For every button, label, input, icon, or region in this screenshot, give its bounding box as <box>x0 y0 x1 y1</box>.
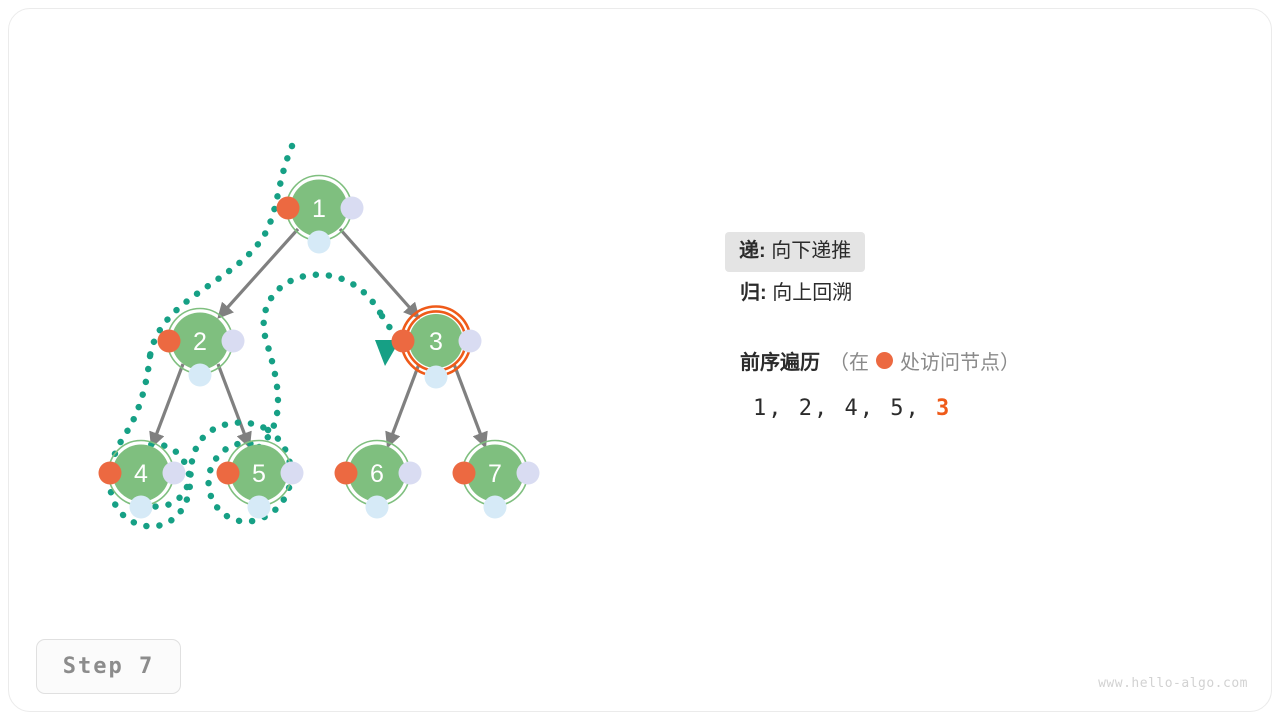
node-7-visit-dot-icon <box>453 462 476 485</box>
tree-node-7[interactable]: 7 <box>453 441 540 519</box>
orange-dot-icon <box>876 352 893 369</box>
node-2-bottom-slot-icon <box>189 364 212 387</box>
node-2-right-slot-icon <box>222 330 245 353</box>
node-2-visit-dot-icon <box>158 330 181 353</box>
edge-3-7 <box>454 364 485 446</box>
node-3-label: 3 <box>429 328 443 356</box>
tree-node-5[interactable]: 5 <box>217 441 304 519</box>
legend-backtrack-key: 归: <box>740 282 767 304</box>
trace-segment-5-back-up <box>259 275 382 447</box>
node-3-bottom-slot-icon <box>425 366 448 389</box>
node-7-right-slot-icon <box>517 462 540 485</box>
legend-recurse-row: 递: 向下递推 <box>725 232 865 272</box>
traversal-sequence-current: 3 <box>936 396 951 421</box>
node-6-right-slot-icon <box>399 462 422 485</box>
node-4-right-slot-icon <box>163 462 186 485</box>
step-badge: Step 7 <box>36 639 181 694</box>
traversal-sequence: 1, 2, 4, 5, 3 <box>740 396 1206 421</box>
node-1-bottom-slot-icon <box>308 231 331 254</box>
node-6-visit-dot-icon <box>335 462 358 485</box>
node-1-label: 1 <box>312 195 326 223</box>
traversal-note-open: （在 <box>829 346 869 375</box>
node-3-right-slot-icon <box>459 330 482 353</box>
node-7-bottom-slot-icon <box>484 496 507 519</box>
node-4-visit-dot-icon <box>99 462 122 485</box>
legend-panel: 递: 向下递推 归: 向上回溯 前序遍历 （在 处访问节点） 1, 2, 4, … <box>726 232 1206 421</box>
illustration-canvas: 1 2 3 4 <box>0 0 1280 720</box>
node-5-label: 5 <box>252 460 266 488</box>
node-2-label: 2 <box>193 328 207 356</box>
legend-recurse-value: 向下递推 <box>771 240 851 262</box>
legend-backtrack-value: 向上回溯 <box>772 282 852 304</box>
node-7-label: 7 <box>488 460 502 488</box>
node-5-right-slot-icon <box>281 462 304 485</box>
tree-node-6[interactable]: 6 <box>335 441 422 519</box>
edge-1-3 <box>340 229 418 317</box>
node-6-bottom-slot-icon <box>366 496 389 519</box>
edge-2-5 <box>218 364 249 446</box>
traversal-title-row: 前序遍历 （在 处访问节点） <box>740 346 1206 375</box>
legend-backtrack-row: 归: 向上回溯 <box>726 274 1206 314</box>
edge-3-6 <box>388 364 419 446</box>
node-6-label: 6 <box>370 460 384 488</box>
node-3-visit-dot-icon <box>392 330 415 353</box>
traversal-sequence-visited: 1, 2, 4, 5, <box>753 396 921 421</box>
node-4-bottom-slot-icon <box>130 496 153 519</box>
traversal-block: 前序遍历 （在 处访问节点） 1, 2, 4, 5, 3 <box>726 346 1206 421</box>
node-1-right-slot-icon <box>341 197 364 220</box>
node-5-visit-dot-icon <box>217 462 240 485</box>
node-5-bottom-slot-icon <box>248 496 271 519</box>
edge-2-4 <box>152 364 183 446</box>
tree-node-4[interactable]: 4 <box>99 441 186 519</box>
node-4-label: 4 <box>134 460 148 488</box>
traversal-title: 前序遍历 <box>740 346 820 375</box>
traversal-note-close: 处访问节点） <box>900 346 1020 375</box>
node-1-visit-dot-icon <box>277 197 300 220</box>
tree-node-3[interactable]: 3 <box>392 307 482 389</box>
watermark: www.hello-algo.com <box>1098 676 1248 691</box>
legend-recurse-key: 递: <box>739 240 766 262</box>
